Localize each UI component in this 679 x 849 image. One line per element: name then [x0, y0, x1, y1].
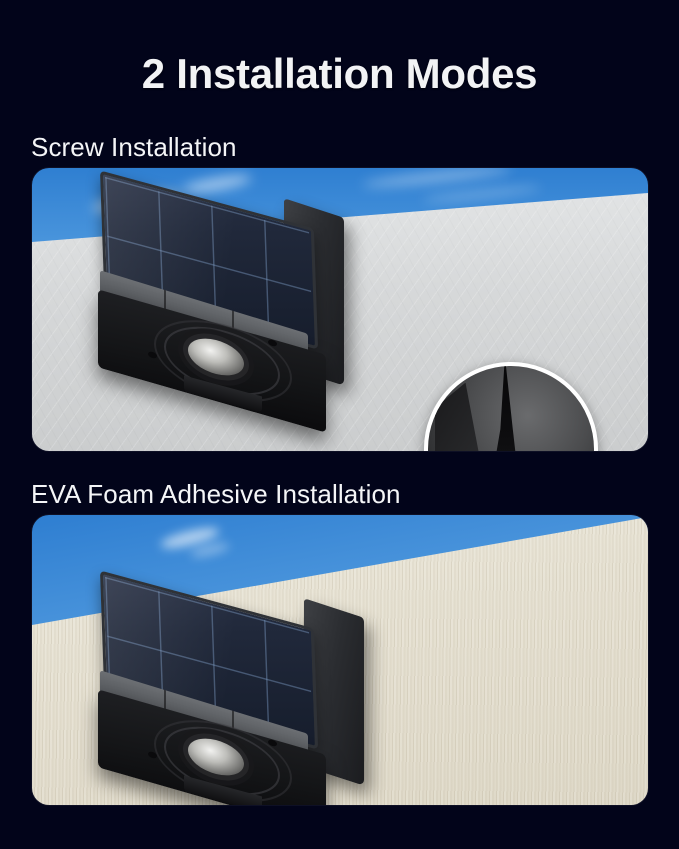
page-title: 2 Installation Modes	[0, 50, 679, 98]
cloud	[362, 168, 512, 190]
scene-screw-installation	[32, 168, 648, 451]
solar-wall-light	[92, 190, 352, 405]
photo-panel-eva-foam-installation	[32, 515, 648, 805]
infographic-page: 2 Installation Modes Screw Installation	[0, 0, 679, 849]
photo-panel-screw-installation	[32, 168, 648, 451]
cloud	[422, 184, 542, 204]
section-label-screw: Screw Installation	[31, 132, 237, 163]
solar-wall-light	[92, 590, 372, 805]
screw-slot	[478, 362, 534, 451]
section-label-eva-foam: EVA Foam Adhesive Installation	[31, 479, 401, 510]
scene-eva-foam-installation	[32, 515, 648, 805]
